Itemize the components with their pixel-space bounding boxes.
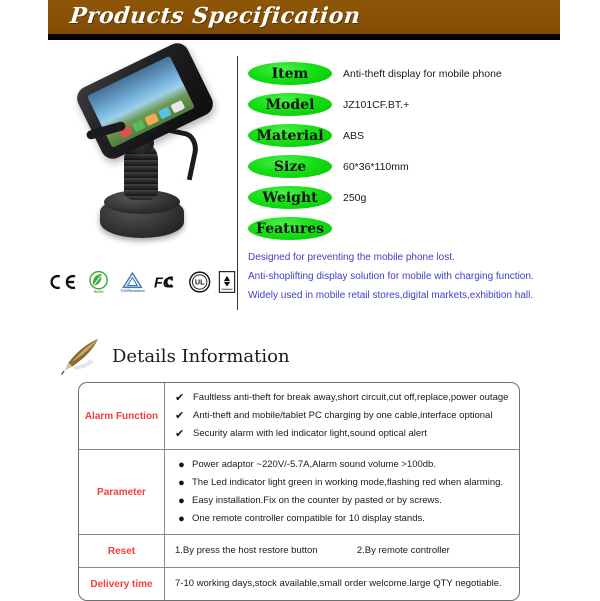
check-icon: ✔ (175, 407, 188, 425)
list-item-text: Anti-theft and mobile/tablet PC charging… (193, 407, 492, 425)
row-content: 7-10 working days,stock available,small … (165, 568, 519, 600)
description-block: Designed for preventing the mobile phone… (248, 248, 598, 305)
list-item-text: Faultless anti-theft for break away,shor… (193, 389, 508, 407)
details-heading-label: Details Information (112, 346, 290, 367)
page-title: Products Specification (68, 0, 362, 34)
description-line: Anti-shoplifting display solution for mo… (248, 267, 598, 286)
spec-label-pill: Item (248, 62, 332, 85)
list-item: ✔ Faultless anti-theft for break away,sh… (175, 389, 515, 407)
row-label: Reset (79, 535, 165, 567)
reset-method-1: 1.By press the host restore button (175, 545, 318, 556)
list-item-text: Security alarm with led indicator light,… (193, 425, 427, 443)
ce-mark-icon (48, 273, 79, 291)
tuv-rheinland-mark-icon: TUVRheinland (118, 269, 147, 295)
table-row-parameter: Parameter ● Power adaptor ~220V/-5.7A,Al… (79, 450, 519, 535)
table-row-delivery-time: Delivery time 7-10 working days,stock av… (79, 568, 519, 600)
bullet-icon: ● (175, 492, 188, 510)
reset-methods: 1.By press the host restore button 2.By … (175, 541, 515, 561)
list-item: ● Power adaptor ~220V/-5.7A,Alarm sound … (175, 456, 515, 474)
spec-label-pill: Features (248, 217, 332, 240)
spec-label-pill: Material (248, 124, 332, 147)
row-label: Alarm Function (79, 383, 165, 449)
spec-row-model: Model JZ101CF.BT.+ (248, 89, 596, 120)
bullet-icon: ● (175, 510, 188, 528)
spec-row-features: Features (248, 213, 596, 244)
check-icon: ✔ (175, 389, 188, 407)
list-item-text: Power adaptor ~220V/-5.7A,Alarm sound vo… (192, 456, 436, 474)
svg-text:TUVRheinland: TUVRheinland (120, 289, 144, 293)
specification-list: Item Anti-theft display for mobile phone… (248, 58, 596, 244)
check-icon: ✔ (175, 425, 188, 443)
bullet-icon: ● (175, 474, 188, 492)
reset-method-2: 2.By remote controller (357, 545, 450, 556)
quill-pen-icon (60, 336, 104, 376)
row-label: Delivery time (79, 568, 165, 600)
spec-value: 60*36*110mm (343, 161, 409, 173)
row-label: Parameter (79, 450, 165, 534)
certification-logos: RoHS TUVRheinland FC UL (48, 266, 236, 298)
list-item-text: Easy installation.Fix on the counter by … (192, 492, 442, 510)
description-line: Widely used in mobile retail stores,digi… (248, 286, 598, 305)
spec-value: JZ101CF.BT.+ (343, 99, 409, 111)
spec-label-pill: Model (248, 93, 332, 116)
svg-text:UL: UL (195, 278, 205, 287)
details-heading: Details Information (60, 336, 290, 376)
list-item: ✔ Anti-theft and mobile/tablet PC chargi… (175, 407, 515, 425)
details-table: Alarm Function ✔ Faultless anti-theft fo… (78, 382, 520, 601)
header-banner: Products Specification (48, 0, 560, 34)
bullet-icon: ● (175, 456, 188, 474)
row-content: ✔ Faultless anti-theft for break away,sh… (165, 383, 519, 449)
spec-value: 250g (343, 192, 366, 204)
spec-row-weight: Weight 250g (248, 182, 596, 213)
list-item: ● The Led indicator light green in worki… (175, 474, 515, 492)
list-item: ● One remote controller compatible for 1… (175, 510, 515, 528)
spec-value: Anti-theft display for mobile phone (343, 68, 502, 80)
svg-text:RoHS: RoHS (93, 290, 103, 294)
spec-row-material: Material ABS (248, 120, 596, 151)
row-content: ● Power adaptor ~220V/-5.7A,Alarm sound … (165, 450, 519, 534)
spec-label-pill: Size (248, 155, 332, 178)
header-underbar (48, 34, 560, 40)
spec-label-pill: Weight (248, 186, 332, 209)
table-row-reset: Reset 1.By press the host restore button… (79, 535, 519, 568)
fcc-mark-icon: FC (154, 273, 181, 291)
list-item-text: One remote controller compatible for 10 … (192, 510, 425, 528)
table-row-alarm-function: Alarm Function ✔ Faultless anti-theft fo… (79, 383, 519, 450)
recycle-mark-icon (218, 269, 236, 295)
spec-value: ABS (343, 130, 364, 142)
list-item-text: The Led indicator light green in working… (192, 474, 503, 492)
list-item: ✔ Security alarm with led indicator ligh… (175, 425, 515, 443)
spec-row-item: Item Anti-theft display for mobile phone (248, 58, 596, 89)
description-line: Designed for preventing the mobile phone… (248, 248, 598, 267)
list-item: ● Easy installation.Fix on the counter b… (175, 492, 515, 510)
delivery-text: 7-10 working days,stock available,small … (175, 574, 515, 594)
rohs-mark-icon: RoHS (86, 269, 111, 295)
row-content: 1.By press the host restore button 2.By … (165, 535, 519, 567)
spec-row-size: Size 60*36*110mm (248, 151, 596, 182)
ul-mark-icon: UL (188, 269, 211, 295)
product-image (62, 56, 238, 254)
spec-divider (237, 56, 238, 310)
